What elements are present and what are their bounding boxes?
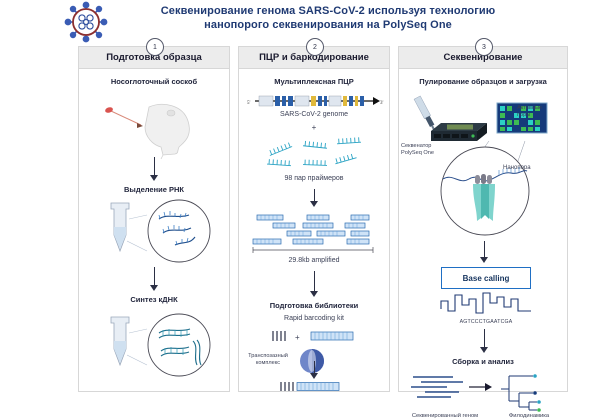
label-active-pores: Активные поры [517,105,567,119]
caption-rapid-barcoding-kit: Rapid barcoding kit [239,315,389,322]
cdna-tube-magnifier [89,307,221,383]
label-nanopore: Нанопора [503,165,563,171]
label-sequenced-genome: Секвенированный геном [399,413,491,419]
step-label-pooling-loading: Пулирование образцов и загрузка [399,77,567,86]
arrow-head-2 [150,285,158,291]
plus-sign-pcr: + [239,123,389,132]
assembly-and-phylogeny-illustration [407,371,561,413]
barcode-plus-fragment: + [267,329,367,345]
svg-text:5': 5' [247,101,251,106]
active-pores-line-2: поры [517,112,530,118]
svg-text:3': 3' [380,101,384,106]
dna-sequence-readout: AGTCCCTGAATCGA [421,319,551,325]
transposase-line-1: Транспозазный [248,353,288,359]
step-label-library-prep: Подготовка библиотеки [239,301,389,310]
panel-pcr-barcoding: 2 ПЦР и баркодирование Мультиплексная ПЦ… [238,46,390,392]
caption-98-primer-pairs: 98 пар праймеров [239,175,389,182]
step-label-assembly-analysis: Сборка и анализ [399,357,567,366]
caption-29-8kb-amplified: 29.8kb amplified [239,257,389,264]
rna-tube-magnifier [89,197,221,269]
panel-sequencing: 3 Секвенирование Пулирование образцов и … [398,46,568,392]
svg-text:+: + [295,333,300,342]
arrow-amplicons-to-library [314,271,315,293]
page-header: Секвенирование генома SARS-CoV-2 использ… [0,0,600,38]
arrow-head-1 [150,175,158,181]
step-label-cdna-synthesis: Синтез кДНК [79,295,229,304]
label-transposase-complex: Транспозазный комплекс [241,353,295,367]
nanopore-signal-squiggle [439,289,535,319]
step-label-nasopharyngeal-swab: Носоглоточный соскоб [79,77,229,86]
arrow-head-3 [310,201,318,207]
panel-2-body: Мультиплексная ПЦР 5' 3' [239,69,389,393]
arrow-head-5 [310,373,318,379]
nanopore-magnifier [415,139,555,241]
label-phylodynamics: Филодинамика [491,413,567,419]
panel-3-body: Пулирование образцов и загрузка [399,69,567,393]
primer-pool-illustration [259,135,375,177]
active-pores-line-1: Активные [517,105,542,111]
arrow-head-6 [480,257,488,263]
panel-1-number-badge: 1 [146,38,164,56]
panel-sample-preparation: 1 Подготовка образца Носоглоточный соско… [78,46,230,392]
sars-cov-2-virus-icon [58,2,114,42]
transposase-line-2: комплекс [256,360,280,366]
arrow-rna-to-cdna [154,267,155,287]
sars-cov-2-genome-bar: 5' 3' [245,93,385,109]
panel-2-number-badge: 2 [306,38,324,56]
caption-sars-cov-2-genome: SARS-CoV-2 genome [239,111,389,118]
base-calling-label: Base calling [463,274,510,283]
base-calling-box: Base calling [441,267,531,289]
arrow-swab-to-rna [154,157,155,177]
step-label-rna-extraction: Выделение РНК [79,185,229,194]
arrow-basecalling-to-assembly [484,329,485,349]
page-title: Секвенирование генома SARS-CoV-2 использ… [118,4,538,32]
panel-1-body: Носоглоточный соскоб Выделение РНК [79,69,229,393]
head-swab-illustration [87,91,223,159]
panel-3-number-badge: 3 [475,38,493,56]
arrow-head-7 [480,347,488,353]
step-label-multiplex-pcr: Мультиплексная ПЦР [239,77,389,86]
title-line-1: Секвенирование генома SARS-CoV-2 использ… [161,5,496,17]
barcoded-library-product [277,381,357,393]
title-line-2: нанопорого секвенирования на PolySeq One [118,18,538,32]
arrow-head-4 [310,291,318,297]
